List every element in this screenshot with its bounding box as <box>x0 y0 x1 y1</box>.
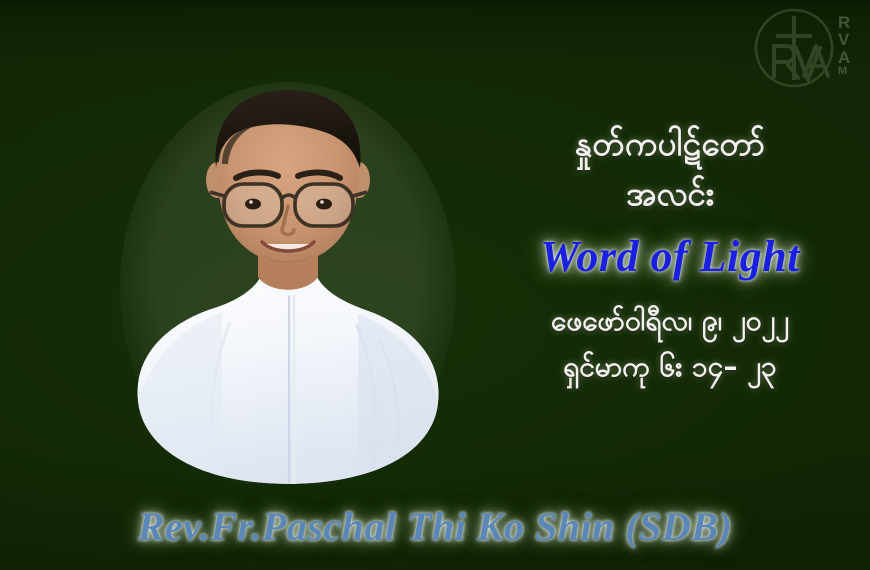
logo-line-2: V <box>838 31 864 48</box>
title-text-block: နှုတ်ကပါဋ်တော် အလင်း Word of Light ဖေဖော… <box>470 120 870 388</box>
logo-line-3: A <box>838 49 864 66</box>
presenter-name: Rev.Fr.Paschal Thi Ko Shin (SDB) <box>0 502 870 552</box>
logo-line-1: R <box>838 14 864 31</box>
presenter-portrait <box>118 72 458 484</box>
broadcast-date: ဖေဖော်ဝါရီလ၊ ၉၊ ၂၀၂၂ <box>470 300 870 342</box>
headline-line-2: အလင်း <box>470 170 870 218</box>
scripture-reference: ရှင်မာကု ၆း ၁၄– ၂၃ <box>470 346 870 388</box>
rva-logo-watermark: R V A M <box>752 6 870 98</box>
rva-monogram-icon <box>752 6 836 90</box>
top-edge-strip <box>0 0 870 5</box>
video-title-card: R V A M <box>0 0 870 570</box>
rva-logo-text: R V A M <box>838 6 864 77</box>
headline-line-1: နှုတ်ကပါဋ်တော် <box>470 120 870 168</box>
logo-line-4: M <box>838 66 864 77</box>
word-of-light-title: Word of Light <box>470 230 870 284</box>
